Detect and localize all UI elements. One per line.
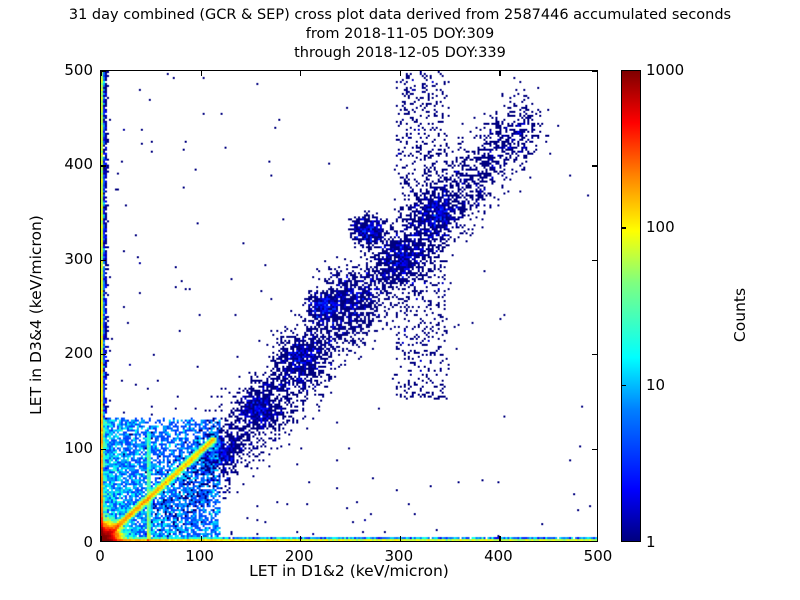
colorbar[interactable] <box>621 70 641 542</box>
y-tick-mark <box>101 449 106 450</box>
x-tick-mark <box>201 536 202 541</box>
colorbar-tick-label: 100 <box>646 218 675 236</box>
x-axis-label: LET in D1&2 (keV/micron) <box>100 562 598 580</box>
y-tick-label: 400 <box>38 155 93 173</box>
y-tick-mark <box>592 354 597 355</box>
y-tick-label: 200 <box>38 344 93 362</box>
y-tick-label: 300 <box>38 250 93 268</box>
scatter-density-canvas <box>101 71 597 541</box>
x-tick-mark <box>101 536 102 541</box>
colorbar-tick-label: 1 <box>646 533 656 551</box>
y-tick-mark <box>101 71 106 72</box>
y-tick-label: 100 <box>38 439 93 457</box>
x-tick-mark <box>300 536 301 541</box>
x-tick-mark <box>400 71 401 76</box>
figure: 31 day combined (GCR & SEP) cross plot d… <box>0 0 800 600</box>
y-tick-label: 500 <box>38 61 93 79</box>
y-tick-mark <box>592 71 597 72</box>
y-tick-mark <box>101 260 106 261</box>
colorbar-tick-label: 10 <box>646 376 665 394</box>
colorbar-tick-mark <box>621 385 626 386</box>
x-tick-mark <box>201 71 202 76</box>
x-tick-mark <box>400 536 401 541</box>
colorbar-tick-label: 1000 <box>646 61 684 79</box>
x-tick-mark <box>499 536 500 541</box>
y-tick-label: 0 <box>38 533 93 551</box>
y-tick-mark <box>592 165 597 166</box>
y-tick-mark <box>592 449 597 450</box>
y-tick-mark <box>592 260 597 261</box>
y-axis-label: LET in D3&4 (keV/micron) <box>27 185 45 445</box>
chart-title: 31 day combined (GCR & SEP) cross plot d… <box>0 6 800 63</box>
y-tick-mark <box>101 354 106 355</box>
chart-title-line-2: from 2018-11-05 DOY:309 <box>0 25 800 44</box>
y-tick-mark <box>101 165 106 166</box>
chart-title-line-1: 31 day combined (GCR & SEP) cross plot d… <box>0 6 800 25</box>
plot-area[interactable] <box>100 70 598 542</box>
x-tick-mark <box>499 71 500 76</box>
colorbar-tick-mark <box>621 227 626 228</box>
colorbar-label: Counts <box>731 195 749 435</box>
x-tick-mark <box>300 71 301 76</box>
